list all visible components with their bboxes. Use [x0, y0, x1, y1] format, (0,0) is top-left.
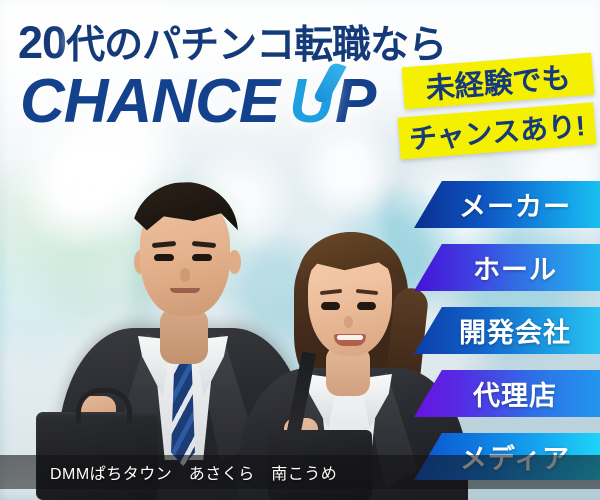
brand-logo: CHANCEUP: [20, 66, 375, 137]
headline-number: 20: [18, 17, 66, 68]
man-neck: [160, 308, 208, 364]
man-mouth: [170, 288, 200, 293]
logo-letter-p: P: [335, 67, 375, 136]
category-bar-development-company[interactable]: 開発会社: [414, 307, 600, 354]
category-bar-maker[interactable]: メーカー: [414, 181, 600, 228]
man-eye-right: [192, 254, 212, 261]
caption-bar: DMMぱちタウン あさくら 南こうめ: [0, 455, 600, 489]
category-bar-agency[interactable]: 代理店: [414, 370, 600, 417]
woman-teeth: [337, 335, 363, 340]
caption-text: DMMぱちタウン あさくら 南こうめ: [50, 460, 337, 484]
category-label-development-company: 開発会社: [459, 311, 571, 350]
woman-eye-left: [321, 302, 340, 310]
category-bar-hall[interactable]: ホール: [414, 244, 600, 291]
man-nose: [180, 268, 190, 282]
logo-word-chance: CHANCE: [20, 67, 279, 136]
man-eye-left: [154, 254, 174, 261]
briefcase-handle: [76, 388, 132, 423]
woman-nose: [344, 316, 353, 328]
page-title: 20代のパチンコ転職なら: [18, 14, 446, 70]
recruitment-banner[interactable]: 20代のパチンコ転職なら CHANCEUP 未経験でも チャンスあり! メーカー…: [0, 0, 600, 500]
category-label-agency: 代理店: [473, 374, 557, 413]
category-label-maker: メーカー: [459, 185, 571, 224]
headline-text: 代のパチンコ転職なら: [66, 24, 446, 67]
logo-letter-u-wrapper: U: [289, 66, 333, 137]
woman-eye-right: [357, 302, 376, 310]
category-label-hall: ホール: [473, 248, 557, 287]
